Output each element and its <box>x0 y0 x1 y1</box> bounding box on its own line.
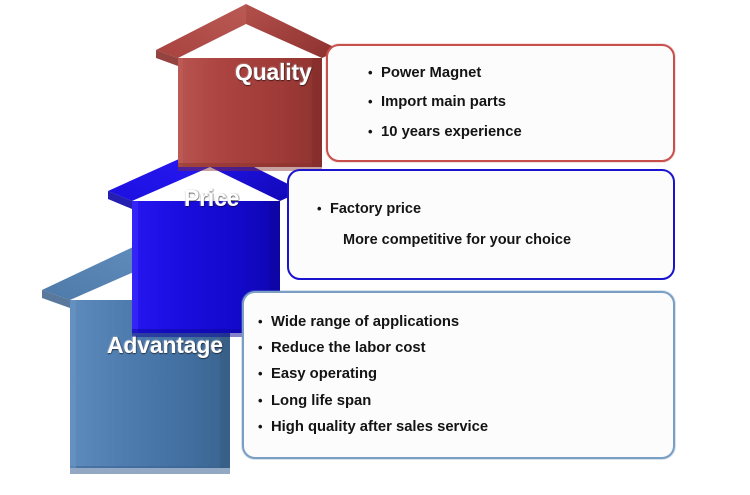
list-item: • 10 years experience <box>368 124 673 141</box>
list-item: • Long life span <box>258 393 673 410</box>
list-item-label: 10 years experience <box>381 124 522 141</box>
bullet-icon: • <box>258 420 271 433</box>
bullet-icon: • <box>258 315 271 328</box>
list-item-label: Long life span <box>271 393 371 410</box>
bullet-icon: • <box>368 66 381 79</box>
list-item-label: Easy operating <box>271 366 377 383</box>
list-item-label: Import main parts <box>381 94 506 111</box>
list-item: • Wide range of applications <box>258 314 673 331</box>
list-item-label: Factory price <box>330 201 421 218</box>
bullet-icon: • <box>258 341 271 354</box>
list-item: • Power Magnet <box>368 65 673 82</box>
list-item-label: High quality after sales service <box>271 419 488 436</box>
list-item-label: Power Magnet <box>381 65 481 82</box>
list-item-label: More competitive for your choice <box>343 232 571 249</box>
arrow-quality-label: Quality <box>235 59 312 86</box>
content-box-price: • Factory price • More competitive for y… <box>287 169 675 280</box>
content-box-advantage: • Wide range of applications • Reduce th… <box>242 291 675 459</box>
list-item: • More competitive for your choice <box>317 232 673 249</box>
list-item-label: Wide range of applications <box>271 314 459 331</box>
list-item: • Factory price <box>317 201 673 218</box>
content-box-quality: • Power Magnet • Import main parts • 10 … <box>326 44 675 162</box>
bullet-icon: • <box>368 95 381 108</box>
list-item: • Reduce the labor cost <box>258 340 673 357</box>
list-item: • Easy operating <box>258 366 673 383</box>
bullet-icon: • <box>368 125 381 138</box>
bullet-icon: • <box>258 394 271 407</box>
list-item-label: Reduce the labor cost <box>271 340 426 357</box>
list-item: • High quality after sales service <box>258 419 673 436</box>
bullet-icon: • <box>317 202 330 215</box>
diagram-canvas: Advantage <box>0 0 750 495</box>
bullet-icon: • <box>258 367 271 380</box>
list-item: • Import main parts <box>368 94 673 111</box>
